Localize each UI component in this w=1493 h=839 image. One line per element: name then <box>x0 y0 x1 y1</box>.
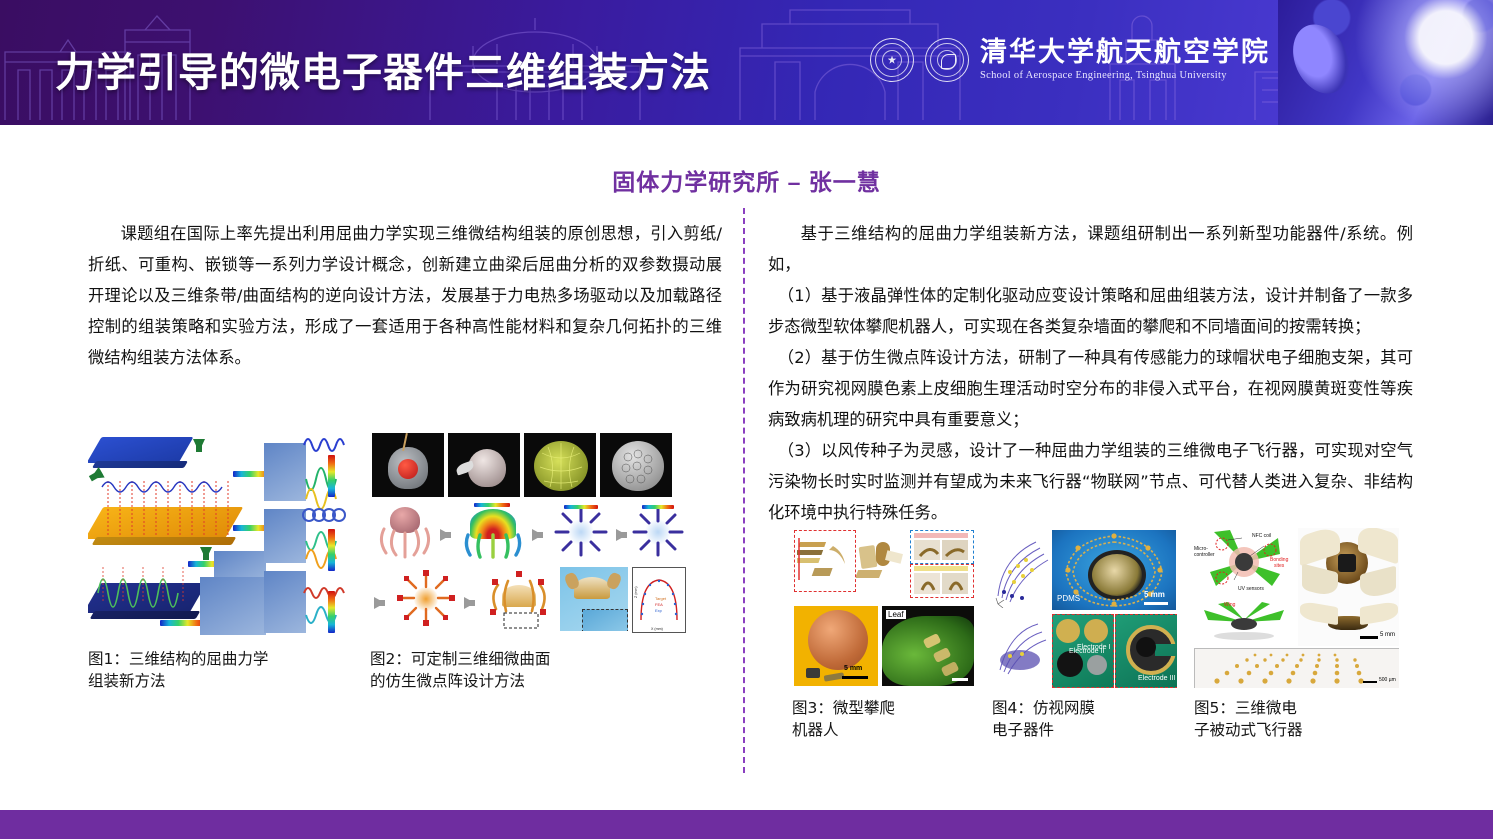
section-subtitle: 固体力学研究所 – 张一慧 <box>0 163 1493 197</box>
figure-2-biomimetic-lattice: Target FEA Exp X (mm) Z (mm) 图2：可定制三维细微曲… <box>370 425 686 692</box>
scale-label-5mm-f5: 5 mm <box>1380 632 1395 638</box>
astronaut-space-graphic <box>1278 0 1493 125</box>
photo-microflier-array: 500 µm <box>1194 648 1399 688</box>
star-pattern-1 <box>550 505 612 559</box>
aerospace-school-seal-icon <box>925 38 969 82</box>
nfc-coil-label: NFC coil <box>1252 533 1271 539</box>
figure-5-caption: 图5：三维微电 子被动式飞行器 <box>1194 697 1399 741</box>
figure-4-caption: 图4：仿视网膜 电子器件 <box>992 697 1177 741</box>
institution-logos: 清华大学航天航空学院 School of Aerospace Engineeri… <box>870 38 1270 82</box>
plot-xlabel: X (mm) <box>651 627 663 631</box>
photo-assembled-devices <box>560 567 628 631</box>
left-figure-row: 图1：三维结构的屈曲力学 组装新方法 <box>88 425 686 692</box>
photo-electrode-panel-1: Electrode I Electrode II <box>1052 614 1114 688</box>
right-paragraph-item-3: （3）以风传种子为灵感，设计了一种屈曲力学组装的三维微电子飞行器，可实现对空气污… <box>768 435 1413 528</box>
figure-3-caption: 图3：微型攀爬 机器人 <box>792 697 975 741</box>
figure-3-climbing-robot: 5 mm Leaf 图3：微型攀爬 机器人 <box>792 528 975 741</box>
figure-5-image: NFC coil Micro- controller Bonding sites… <box>1194 528 1399 688</box>
right-paragraph-item-1: （1）基于液晶弹性体的定制化驱动应变设计策略和屈曲组装方法，设计并制备了一款多步… <box>768 280 1413 342</box>
scale-label-500um: 500 µm <box>1379 677 1396 683</box>
figure-2-comparison-plot: Target FEA Exp X (mm) Z (mm) <box>632 567 686 633</box>
photo-pdms-dome: PDMS 5 mm <box>1052 530 1176 610</box>
photo-microflier-real-top <box>1298 528 1399 598</box>
radial-pattern-red <box>394 567 458 629</box>
wing-label: Wing <box>1224 602 1236 608</box>
right-figure-row: 5 mm Leaf 图3：微型攀爬 机器人 <box>792 528 1399 741</box>
plot-legend-exp: Exp <box>655 608 663 613</box>
left-column: 课题组在国际上率先提出利用屈曲力学实现三维微结构组装的原创思想，引入剪纸/折纸、… <box>88 218 722 373</box>
assembled-octopus-device <box>482 567 554 631</box>
star-pattern-2 <box>632 505 684 559</box>
figure-3-image: 5 mm Leaf <box>792 528 975 688</box>
photo-seed-pod <box>448 433 520 497</box>
electrode-2-label: Electrode II <box>1069 648 1104 655</box>
figure-1-buckling-assembly: 图1：三维结构的屈曲力学 组装新方法 <box>88 425 346 692</box>
uv-sensors-label: UV sensors <box>1238 586 1264 592</box>
figure-5-microflier: NFC coil Micro- controller Bonding sites… <box>1194 528 1399 741</box>
photo-cabbage-veins <box>524 433 596 497</box>
plot-legend-fea: FEA <box>655 602 663 607</box>
leaf-label: Leaf <box>886 610 906 619</box>
plot-legend-target: Target <box>655 596 667 601</box>
institution-name-en: School of Aerospace Engineering, Tsinghu… <box>980 71 1270 82</box>
institution-name-cn: 清华大学航天航空学院 <box>980 39 1270 66</box>
right-paragraph-item-2: （2）基于仿生微点阵设计方法，研制了一种具有传感能力的球帽状电子细胞支架，其可作… <box>768 342 1413 435</box>
photo-microflier-side: Wing <box>1194 598 1296 646</box>
figure-2-caption: 图2：可定制三维细微曲面 的仿生微点阵设计方法 <box>370 648 686 692</box>
page-header: 力学引导的微电子器件三维组装方法 清华大学航天航空学院 School of Ae… <box>0 0 1493 125</box>
electrode-3-label: Electrode III <box>1138 675 1175 682</box>
left-paragraph: 课题组在国际上率先提出利用屈曲力学实现三维微结构组装的原创思想，引入剪纸/折纸、… <box>88 218 722 373</box>
page-title: 力学引导的微电子器件三维组装方法 <box>55 40 711 98</box>
page-footer-bar <box>0 810 1493 839</box>
photo-microflier-real-side: 5 mm <box>1298 598 1399 646</box>
scale-label-5mm: 5 mm <box>844 665 862 672</box>
svg-text:sites: sites <box>1274 563 1285 569</box>
right-paragraph-intro: 基于三维结构的屈曲力学组装新方法，课题组研制出一系列新型功能器件/系统。例如， <box>768 218 1413 280</box>
plot-ylabel: Z (mm) <box>634 586 638 598</box>
photo-lantern-fruit <box>372 433 444 497</box>
photo-electrode-panel-3: Electrode III <box>1115 614 1177 688</box>
figure-4-image: PDMS 5 mm Electrode I Electrode II Elect… <box>992 528 1177 688</box>
photo-sem-pollen <box>600 433 672 497</box>
svg-text:controller: controller <box>1194 552 1215 558</box>
tsinghua-university-seal-icon <box>870 38 914 82</box>
figure-1-caption: 图1：三维结构的屈曲力学 组装新方法 <box>88 648 346 692</box>
figure-1-image <box>88 425 346 639</box>
photo-microflier-schematic: NFC coil Micro- controller Bonding sites… <box>1194 528 1296 598</box>
figure-2-image: Target FEA Exp X (mm) Z (mm) <box>370 425 686 639</box>
photo-leaf-climbing: Leaf <box>882 606 974 686</box>
figure-4-retina-electronics: PDMS 5 mm Electrode I Electrode II Elect… <box>992 528 1177 741</box>
scale-label-5mm-f4: 5 mm <box>1144 590 1165 599</box>
pdms-label: PDMS <box>1057 594 1080 603</box>
photo-penny-scale: 5 mm <box>794 606 878 686</box>
right-column: 基于三维结构的屈曲力学组装新方法，课题组研制出一系列新型功能器件/系统。例如， … <box>768 218 1413 528</box>
column-divider <box>743 208 745 773</box>
